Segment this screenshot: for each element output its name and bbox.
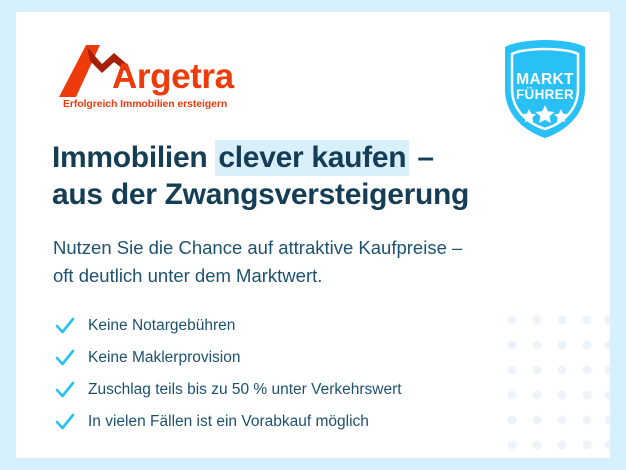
subtitle: Nutzen Sie die Chance auf attraktive Kau… <box>53 234 553 290</box>
list-item-label: Keine Notargebühren <box>88 318 235 334</box>
headline-highlight: clever kaufen <box>215 140 409 176</box>
headline-text-before: Immobilien <box>52 141 215 174</box>
check-icon <box>54 347 76 369</box>
list-item: Keine Notargebühren <box>54 310 514 342</box>
logo-wordmark: Argetra <box>112 59 234 94</box>
logo-tagline: Erfolgreich Immobilien ersteigern <box>63 98 227 110</box>
badge-line2: FÜHRER <box>516 87 574 102</box>
list-item: Keine Maklerprovision <box>54 342 514 374</box>
check-icon <box>54 411 76 433</box>
badge-line1: MARKT <box>516 71 574 88</box>
list-item-label: Keine Maklerprovision <box>88 350 241 366</box>
headline-line-2: aus der Zwangsversteigerung <box>52 177 572 214</box>
list-item: Zuschlag teils bis zu 50 % unter Verkehr… <box>54 374 514 406</box>
benefit-list: Keine Notargebühren Keine Maklerprovisio… <box>54 310 514 438</box>
list-item-label: Zuschlag teils bis zu 50 % unter Verkehr… <box>88 382 402 398</box>
check-icon <box>54 379 76 401</box>
list-item: In vielen Fällen ist ein Vorabkauf mögli… <box>54 406 514 438</box>
market-leader-badge: MARKT FÜHRER <box>493 37 597 141</box>
dot-grid-decoration <box>506 308 610 458</box>
promo-banner: Argetra Erfolgreich Immobilien ersteiger… <box>0 0 626 470</box>
list-item-label: In vielen Fällen ist ein Vorabkauf mögli… <box>88 414 369 430</box>
banner-card: Argetra Erfolgreich Immobilien ersteiger… <box>16 12 610 458</box>
headline: Immobilien clever kaufen – aus der Zwang… <box>52 140 572 214</box>
subtitle-line-1: Nutzen Sie die Chance auf attraktive Kau… <box>53 234 553 262</box>
subtitle-line-2: oft deutlich unter dem Marktwert. <box>53 262 553 290</box>
argetra-logo[interactable]: Argetra Erfolgreich Immobilien ersteiger… <box>56 45 236 120</box>
headline-text-after: – <box>409 141 433 174</box>
check-icon <box>54 315 76 337</box>
headline-line-1: Immobilien clever kaufen – <box>52 140 572 177</box>
